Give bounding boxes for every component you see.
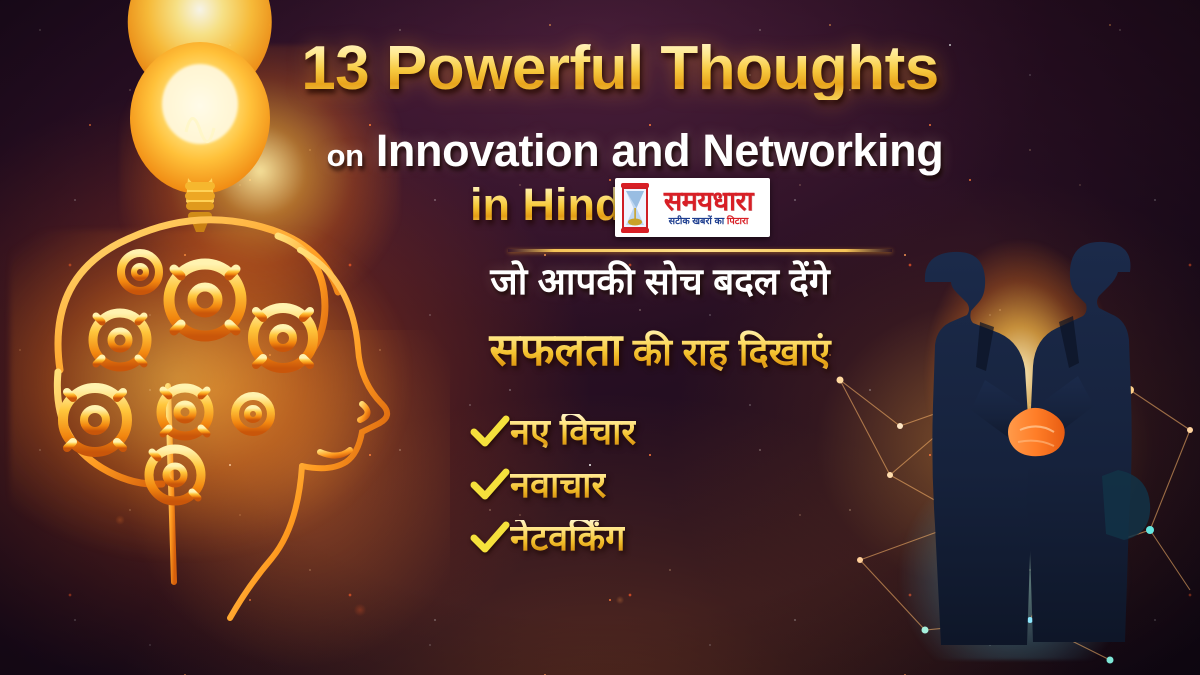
list-item: नए विचार bbox=[470, 408, 940, 456]
gold-divider bbox=[508, 249, 892, 252]
logo-text-block: समयधारा सटीक खबरों का पिटारा bbox=[652, 188, 770, 227]
page-title: 13 Powerful Thoughts bbox=[250, 38, 990, 100]
subtitle-gold-rest: की राह दिखाएं bbox=[633, 332, 831, 374]
list-item-label: नेटवर्किंग bbox=[510, 520, 625, 556]
logo-tagline-part1: सटीक खबरों का bbox=[669, 216, 727, 227]
subtitle-gold: सफलता की राह दिखाएं bbox=[400, 325, 920, 375]
subtitle-gold-highlight: सफलता bbox=[489, 324, 622, 375]
benefits-list: नए विचार नवाचार नेटवर्किंग bbox=[470, 408, 940, 567]
headline-prefix: on bbox=[327, 138, 364, 173]
check-icon bbox=[470, 521, 510, 555]
logo-tagline: सटीक खबरों का पिटारा bbox=[652, 217, 765, 227]
headline-topic: Innovation and Networking bbox=[376, 125, 944, 176]
logo-name: समयधारा bbox=[652, 188, 765, 215]
language-logo-row: in Hindi समयधारा सटीक खबरों का प bbox=[470, 182, 990, 242]
list-item-label: नवाचार bbox=[510, 467, 606, 503]
logo-tagline-part2: पिटारा bbox=[727, 216, 748, 227]
list-item: नवाचार bbox=[470, 461, 940, 509]
samaydhara-logo[interactable]: समयधारा सटीक खबरों का पिटारा bbox=[615, 178, 770, 237]
poster-text-content: 13 Powerful Thoughts on Innovation and N… bbox=[0, 0, 1200, 675]
headline-language: in Hindi bbox=[470, 182, 635, 227]
poster-canvas: 13 Powerful Thoughts on Innovation and N… bbox=[0, 0, 1200, 675]
subtitle-white: जो आपकी सोच बदल देंगे bbox=[400, 262, 920, 303]
headline-subtitle: on Innovation and Networking bbox=[230, 128, 1040, 173]
check-icon bbox=[470, 415, 510, 449]
list-item-label: नए विचार bbox=[510, 414, 636, 450]
hourglass-icon bbox=[618, 182, 652, 234]
check-icon bbox=[470, 468, 510, 502]
list-item: नेटवर्किंग bbox=[470, 514, 940, 562]
